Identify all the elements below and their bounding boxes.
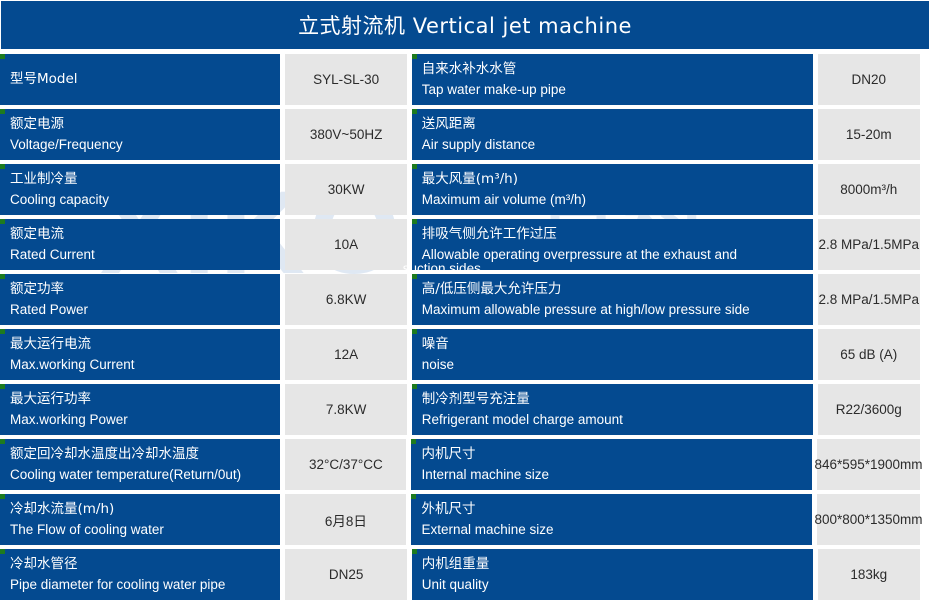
table-row: 工业制冷量 Cooling capacity 30KW 最大风量(m³/h) M… [0, 162, 930, 217]
spec-label-tap-water-pipe: 自来水补水水管 Tap water make-up pipe [412, 54, 813, 105]
spec-label-en: Unit quality [422, 575, 813, 595]
spec-label-cn: 最大运行电流 [10, 335, 280, 355]
spec-label-en: Refrigerant model charge amount [422, 410, 813, 430]
spec-value-tap-water-pipe: DN20 [818, 54, 920, 105]
spec-label-cooling-water-temperature: 额定回冷却水温度出冷却水温度 Cooling water temperature… [0, 439, 280, 490]
spec-value-external-machine-size: 800*800*1350mm [817, 494, 920, 545]
spec-label-cn: 额定回冷却水温度出冷却水温度 [10, 445, 280, 465]
table-row: 额定功率 Rated Power 6.8KW 高/低压侧最大允许压力 Maxim… [0, 272, 930, 327]
spec-value-rated-power: 6.8KW [285, 274, 406, 325]
spec-label-rated-power: 额定功率 Rated Power [0, 274, 280, 325]
spec-label-en: Tap water make-up pipe [422, 80, 813, 100]
spec-label-cooling-water-flow: 冷却水流量(m/h) The Flow of cooling water [0, 494, 280, 545]
spec-value-noise: 65 dB (A) [818, 329, 920, 380]
spec-label-cn: 排吸气侧允许工作过压 [422, 225, 813, 245]
spec-label-cn: 最大风量(m³/h) [422, 170, 813, 190]
spec-value-max-working-power: 7.8KW [285, 384, 406, 435]
spec-label-en: Pipe diameter for cooling water pipe [10, 575, 280, 595]
spec-label-unit-quality: 内机组重量 Unit quality [412, 549, 813, 600]
spec-label-en: Cooling capacity [10, 190, 280, 210]
spec-label-cooling-water-pipe-diameter: 冷却水管径 Pipe diameter for cooling water pi… [0, 549, 280, 600]
spec-label-rated-current: 额定电流 Rated Current [0, 219, 280, 270]
table-row: 最大运行功率 Max.working Power 7.8KW 制冷剂型号充注量 … [0, 382, 930, 437]
spec-label-max-working-current: 最大运行电流 Max.working Current [0, 329, 280, 380]
spec-label-en: Voltage/Frequency [10, 135, 280, 155]
spec-label-max-allowable-pressure: 高/低压侧最大允许压力 Maximum allowable pressure a… [412, 274, 813, 325]
spec-label-en: The Flow of cooling water [10, 520, 280, 540]
spec-label-cn: 内机尺寸 [421, 445, 812, 465]
spec-label-cn: 冷却水管径 [10, 555, 280, 575]
table-row: 冷却水管径 Pipe diameter for cooling water pi… [0, 547, 930, 602]
page-title-bar: 立式射流机 Vertical jet machine [0, 0, 930, 50]
spec-label-cn: 内机组重量 [422, 555, 813, 575]
spec-label-en: Internal machine size [421, 465, 812, 485]
spec-label-cn: 外机尺寸 [421, 500, 812, 520]
spec-table: 型号Model SYL-SL-30 自来水补水水管 Tap water make… [0, 52, 930, 602]
spec-value-voltage-frequency: 380V~50HZ [285, 109, 406, 160]
spec-value-refrigerant-charge: R22/3600g [818, 384, 920, 435]
spec-label-cn: 送风距离 [422, 115, 813, 135]
spec-value-allowable-overpressure: 2.8 MPa/1.5MPa [818, 219, 920, 270]
spec-label-en: Maximum allowable pressure at high/low p… [422, 300, 813, 320]
table-row: 额定回冷却水温度出冷却水温度 Cooling water temperature… [0, 437, 930, 492]
spec-label-internal-machine-size: 内机尺寸 Internal machine size [411, 439, 812, 490]
spec-label-cn: 自来水补水水管 [422, 60, 813, 80]
spec-label-cn: 高/低压侧最大允许压力 [422, 280, 813, 300]
spec-label-en: Air supply distance [422, 135, 813, 155]
spec-label-en: External machine size [421, 520, 812, 540]
spec-value-cooling-water-pipe-diameter: DN25 [285, 549, 406, 600]
spec-label-max-air-volume: 最大风量(m³/h) Maximum air volume (m³/h) [412, 164, 813, 215]
spec-label-refrigerant-charge: 制冷剂型号充注量 Refrigerant model charge amount [412, 384, 813, 435]
spec-value-air-supply-distance: 15-20m [818, 109, 920, 160]
spec-label-en: Max.working Current [10, 355, 280, 375]
spec-label-cn: 工业制冷量 [10, 170, 280, 190]
spec-value-max-working-current: 12A [285, 329, 406, 380]
spec-label-air-supply-distance: 送风距离 Air supply distance [412, 109, 813, 160]
spec-label-cn: 噪音 [422, 335, 813, 355]
spec-label-max-working-power: 最大运行功率 Max.working Power [0, 384, 280, 435]
spec-value-max-allowable-pressure: 2.8 MPa/1.5MPa [818, 274, 920, 325]
spec-sheet: XIKO 喜科 立式射流机 Vertical jet machine 型号Mod… [0, 0, 930, 602]
table-row: 最大运行电流 Max.working Current 12A 噪音 noise … [0, 327, 930, 382]
table-row: 冷却水流量(m/h) The Flow of cooling water 6月8… [0, 492, 930, 547]
table-row: 型号Model SYL-SL-30 自来水补水水管 Tap water make… [0, 52, 930, 107]
spec-label-en: Rated Power [10, 300, 280, 320]
page-title: 立式射流机 Vertical jet machine [298, 10, 632, 40]
spec-label-cn: 型号Model [10, 70, 280, 90]
spec-value-max-air-volume: 8000m³/h [818, 164, 920, 215]
spec-value-rated-current: 10A [285, 219, 406, 270]
spec-value-cooling-water-flow: 6月8日 [285, 494, 406, 545]
spec-label-allowable-overpressure: 排吸气侧允许工作过压 Allowable operating overpress… [412, 219, 813, 270]
spec-label-cn: 额定功率 [10, 280, 280, 300]
spec-label-external-machine-size: 外机尺寸 External machine size [411, 494, 812, 545]
spec-label-cooling-capacity: 工业制冷量 Cooling capacity [0, 164, 280, 215]
spec-value-model: SYL-SL-30 [285, 54, 406, 105]
spec-label-model: 型号Model [0, 54, 280, 105]
spec-label-en: Maximum air volume (m³/h) [422, 190, 813, 210]
table-row: 额定电流 Rated Current 10A 排吸气侧允许工作过压 Allowa… [0, 217, 930, 272]
spec-value-cooling-capacity: 30KW [285, 164, 406, 215]
spec-label-en: noise [422, 355, 813, 375]
spec-label-cn: 最大运行功率 [10, 390, 280, 410]
spec-label-cn: 额定电流 [10, 225, 280, 245]
spec-value-cooling-water-temperature: 32°C/37°CC [285, 439, 406, 490]
spec-label-cn: 额定电源 [10, 115, 280, 135]
spec-label-en: Rated Current [10, 245, 280, 265]
spec-label-cn: 制冷剂型号充注量 [422, 390, 813, 410]
spec-value-internal-machine-size: 846*595*1900mm [817, 439, 920, 490]
spec-label-en: Cooling water temperature(Return/0ut) [10, 465, 280, 485]
spec-label-noise: 噪音 noise [412, 329, 813, 380]
spec-value-unit-quality: 183kg [818, 549, 920, 600]
spec-label-cn: 冷却水流量(m/h) [10, 500, 280, 520]
spec-label-en: Max.working Power [10, 410, 280, 430]
table-row: 额定电源 Voltage/Frequency 380V~50HZ 送风距离 Ai… [0, 107, 930, 162]
spec-label-voltage-frequency: 额定电源 Voltage/Frequency [0, 109, 280, 160]
